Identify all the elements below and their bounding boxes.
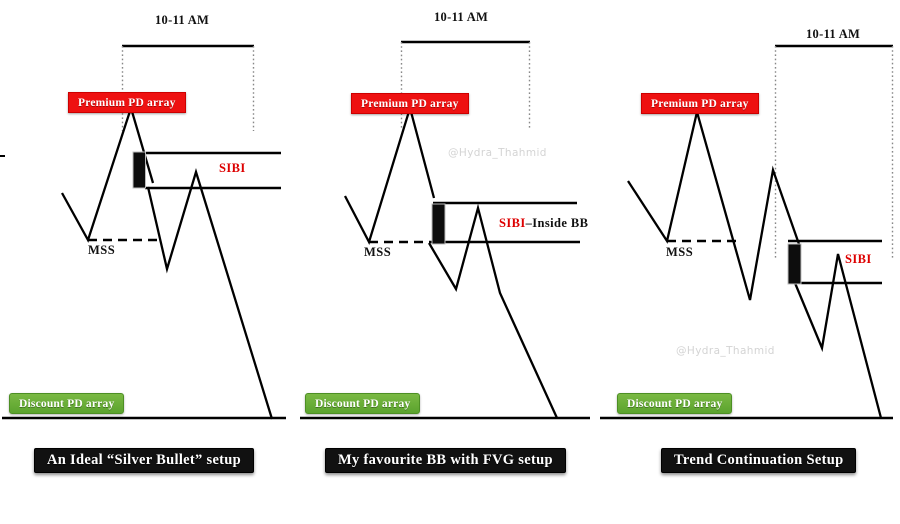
panel-2-watermark: @Hydra_Thahmid (448, 147, 547, 159)
panel-3-discount-pd-array-chip[interactable]: Discount PD array (617, 393, 732, 414)
panel-2-time-label: 10-11 AM (434, 10, 488, 25)
panel-1-sibi-label: SIBI (219, 161, 246, 176)
diagram-canvas: 10-11 AM Premium PD array SIBI MSS Disco… (0, 0, 900, 524)
panel-2-premium-pd-array-chip[interactable]: Premium PD array (351, 93, 469, 114)
panel-1-price-path-b (148, 172, 272, 419)
panel-3-order-block (788, 244, 801, 284)
panel-1-time-label: 10-11 AM (155, 13, 209, 28)
panel-3-price-path-a (628, 112, 800, 300)
panel-2-sibi-suffix: –Inside BB (526, 216, 589, 230)
panel-1-title-chip[interactable]: An Ideal “Silver Bullet” setup (34, 448, 254, 473)
panel-3-title-chip[interactable]: Trend Continuation Setup (661, 448, 856, 473)
panel-1-discount-pd-array-chip[interactable]: Discount PD array (9, 393, 124, 414)
panel-3-mss-label: MSS (666, 245, 693, 260)
panel-2-sibi-text: SIBI (499, 216, 526, 230)
panel-1-premium-pd-array-chip[interactable]: Premium PD array (68, 92, 186, 113)
panel-1-order-block (133, 152, 146, 188)
panel-2-discount-pd-array-chip[interactable]: Discount PD array (305, 393, 420, 414)
panel-2-sibi-label: SIBI–Inside BB (499, 216, 588, 231)
panel-3-sibi-text: SIBI (845, 252, 872, 266)
panel-2-title-chip[interactable]: My favourite BB with FVG setup (325, 448, 566, 473)
panel-2-price-path-b (429, 208, 557, 418)
price-action-svg (0, 0, 900, 524)
panel-3-watermark: @Hydra_Thahmid (676, 345, 775, 357)
panel-3-sibi-label: SIBI (845, 252, 872, 267)
panel-2-order-block (432, 204, 445, 244)
panel-3-time-label: 10-11 AM (806, 27, 860, 42)
panel-3-premium-pd-array-chip[interactable]: Premium PD array (641, 93, 759, 114)
panel-3-price-path-b (795, 254, 881, 418)
panel-1-mss-label: MSS (88, 243, 115, 258)
panel-2-mss-label: MSS (364, 245, 391, 260)
panel-1-sibi-text: SIBI (219, 161, 246, 175)
panel-2-price-path-a (345, 108, 434, 242)
